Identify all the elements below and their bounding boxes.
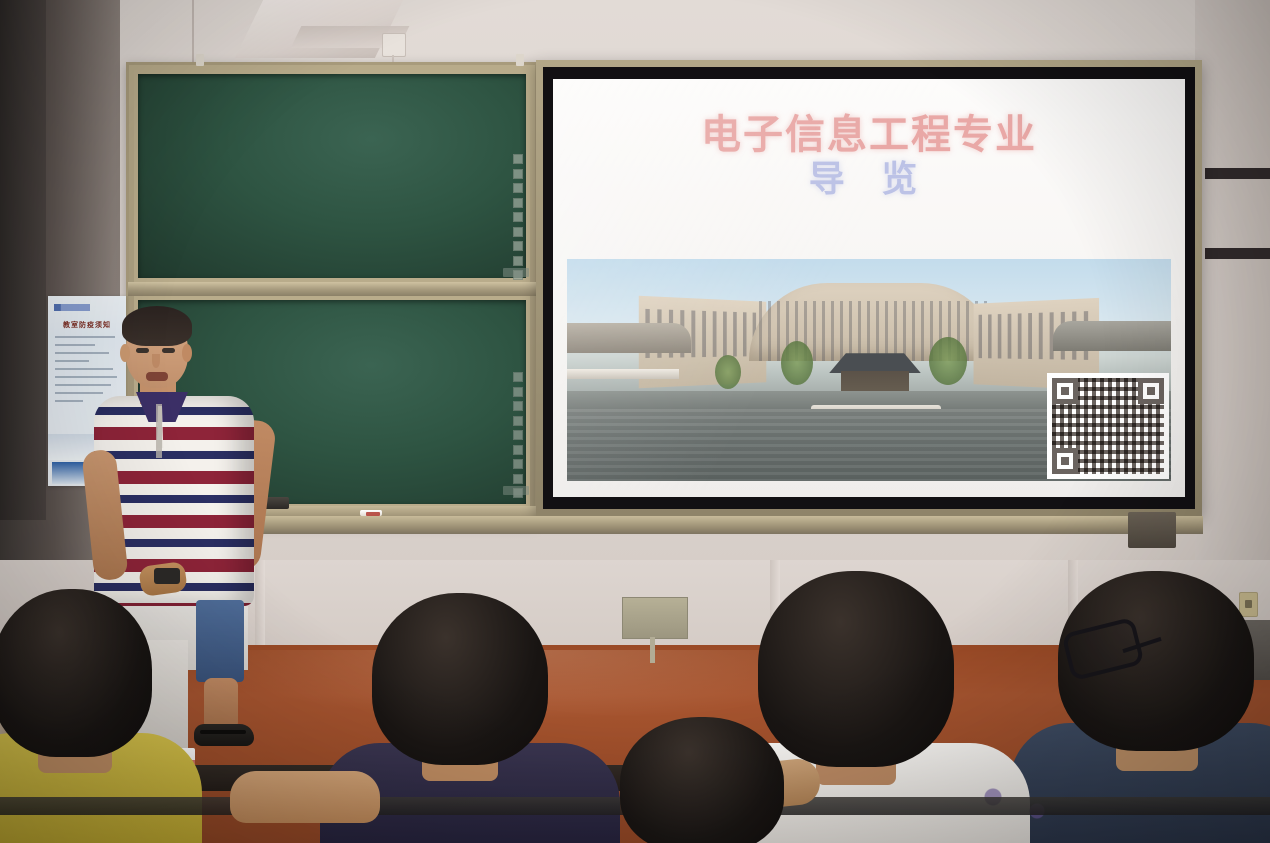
photo-walkway-left: [567, 323, 691, 353]
presenter-sandal: [194, 724, 254, 746]
slide-title-main: 电子信息工程专业: [553, 113, 1185, 158]
classroom-presentation-scene: 电子信息工程专业 导 览: [0, 0, 1270, 843]
presenter-leg: [204, 678, 238, 730]
photo-tree: [715, 355, 741, 389]
photo-walkway-right: [1053, 321, 1171, 351]
qr-finder-icon: [1138, 378, 1164, 404]
photo-tree: [929, 337, 967, 385]
presenter-brow: [134, 340, 150, 344]
eraser-icon[interactable]: [513, 256, 523, 266]
presentation-remote[interactable]: [154, 568, 180, 584]
poster-logo-icon: [54, 304, 90, 311]
left-wall-corner: [0, 0, 46, 520]
power-icon[interactable]: [513, 154, 523, 164]
slide-title-sub: 导 览: [553, 158, 1185, 201]
wall-sensor-icon: [382, 33, 406, 57]
power-icon[interactable]: [513, 372, 523, 382]
board-clip-left: [196, 54, 204, 66]
photo-bridge: [567, 369, 679, 379]
pen-icon[interactable]: [513, 227, 523, 237]
presenter-shorts: [196, 600, 244, 682]
qr-code-pattern: [1052, 378, 1164, 474]
presentation-slide[interactable]: 电子信息工程专业 导 览: [553, 79, 1185, 497]
presenter-mouth: [146, 372, 168, 381]
eraser-icon[interactable]: [513, 474, 523, 484]
presenter-ear: [182, 344, 192, 362]
pen-icon[interactable]: [513, 459, 523, 469]
student-head: [0, 589, 152, 757]
presenter-brow: [160, 340, 176, 344]
right-wall: [1195, 0, 1270, 640]
pen-icon[interactable]: [513, 241, 523, 251]
play-icon[interactable]: [513, 212, 523, 222]
student-head: [620, 717, 784, 843]
display-mount-bracket: [1128, 512, 1176, 548]
photo-pavilion-roof: [823, 351, 927, 373]
board-control-strip-lower[interactable]: [513, 370, 525, 500]
chalkboard-panel-upper[interactable]: [134, 70, 530, 282]
menu-icon[interactable]: [513, 169, 523, 179]
presenter-eye: [162, 348, 175, 353]
board-clip-right: [516, 54, 524, 66]
presenter-nose: [152, 354, 160, 368]
slide-campus-photo: [567, 259, 1171, 481]
board-logo-badge-upper: [503, 268, 529, 277]
board-logo-badge-lower: [503, 486, 529, 495]
volume-icon[interactable]: [513, 416, 523, 426]
presenter-ear: [120, 344, 130, 362]
student-head: [372, 593, 548, 765]
student-hands: [230, 771, 380, 823]
wall-plaque-stem: [650, 637, 655, 663]
qr-finder-icon: [1052, 378, 1078, 404]
wall-plaque: [622, 597, 688, 639]
presenter-eye: [136, 348, 149, 353]
display-support-rail: [128, 516, 1203, 534]
presenter-placket: [156, 404, 162, 458]
chalkboard-divider: [128, 282, 536, 296]
pen-icon[interactable]: [513, 445, 523, 455]
menu-icon[interactable]: [513, 387, 523, 397]
curtain-rail-lower: [1205, 248, 1270, 259]
presenter-hair: [122, 306, 192, 346]
list-item: [600, 723, 800, 843]
slide-title-block: 电子信息工程专业 导 览: [553, 113, 1185, 201]
qr-finder-icon: [1052, 448, 1078, 474]
qr-code[interactable]: [1047, 373, 1169, 479]
photo-tree: [781, 341, 813, 385]
prev-icon[interactable]: [513, 183, 523, 193]
ceiling-seam: [192, 0, 194, 64]
play-icon[interactable]: [513, 430, 523, 440]
board-control-strip-upper[interactable]: [513, 152, 525, 282]
prev-icon[interactable]: [513, 401, 523, 411]
volume-icon[interactable]: [513, 198, 523, 208]
curtain-rail-upper: [1205, 168, 1270, 179]
